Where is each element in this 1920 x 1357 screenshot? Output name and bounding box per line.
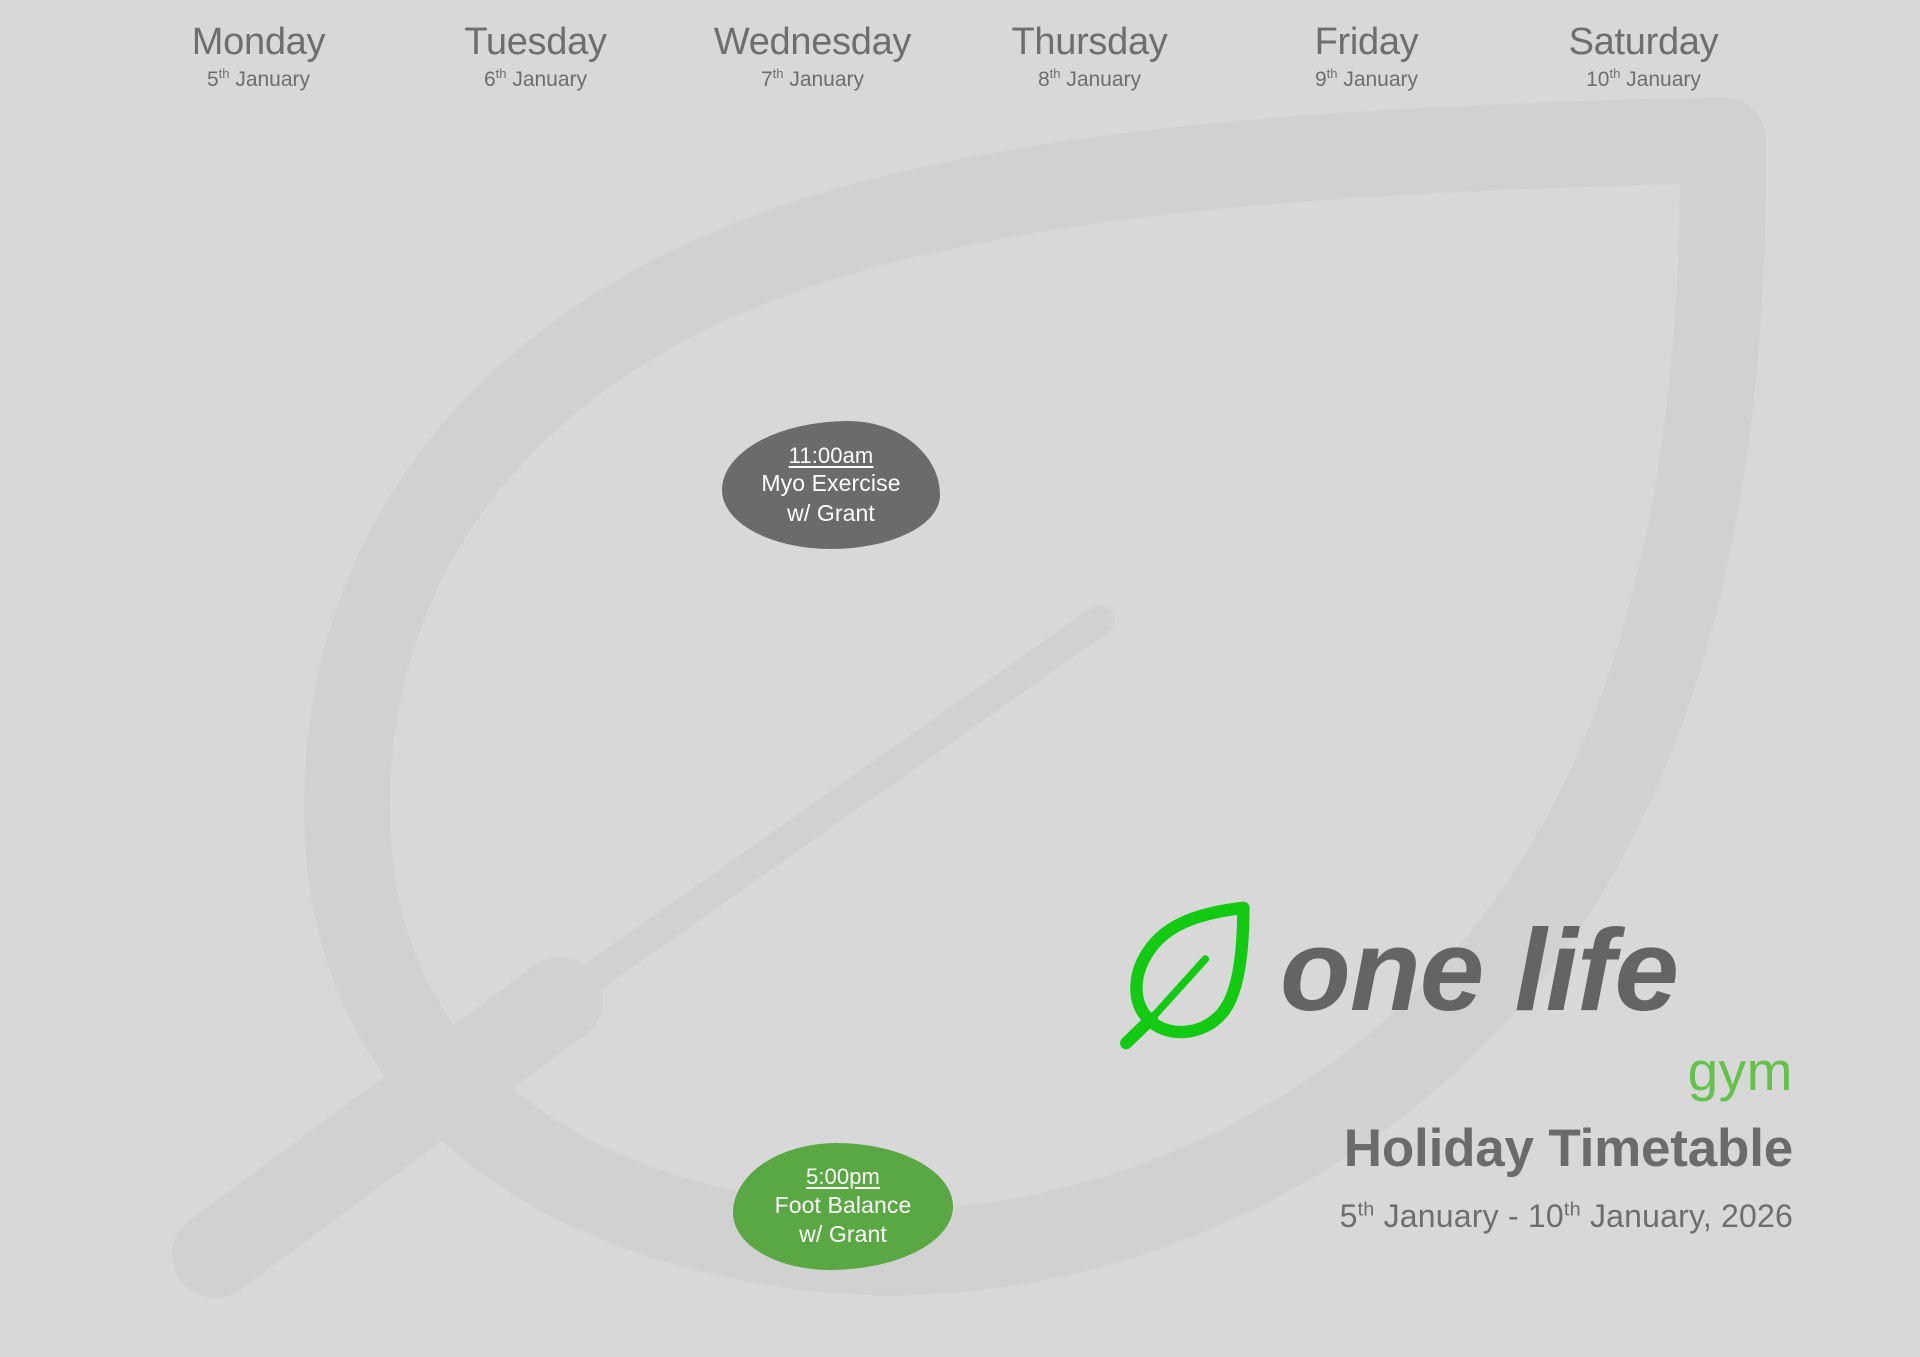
day-name: Tuesday xyxy=(397,22,674,63)
day-column-friday: Friday 9th January xyxy=(1228,0,1505,120)
class-title: Myo Exercise xyxy=(761,469,900,498)
class-title: Foot Balance xyxy=(775,1191,912,1220)
day-date-number: 5 xyxy=(207,68,219,91)
range-start-day: 5 xyxy=(1340,1198,1358,1234)
day-date-ordinal: th xyxy=(1327,66,1338,81)
class-instructor: w/ Grant xyxy=(787,499,875,528)
range-end-ordinal: th xyxy=(1564,1199,1581,1221)
day-column-wednesday: Wednesday 7th January xyxy=(674,0,951,120)
timetable-poster: Monday 5th January Tuesday 6th January W… xyxy=(0,0,1920,1357)
range-year: 2026 xyxy=(1721,1198,1793,1234)
day-name: Monday xyxy=(120,22,397,63)
brand-logo-row: one life xyxy=(1105,890,1845,1050)
day-date: 10th January xyxy=(1505,68,1782,91)
class-card-foot-balance[interactable]: 5:00pm Foot Balance w/ Grant xyxy=(733,1143,953,1270)
day-column-monday: Monday 5th January xyxy=(120,0,397,120)
day-date-number: 10 xyxy=(1586,68,1609,91)
day-name: Thursday xyxy=(951,22,1228,63)
day-column-saturday: Saturday 10th January xyxy=(1505,0,1782,120)
range-end-month: January xyxy=(1590,1198,1703,1234)
day-name: Saturday xyxy=(1505,22,1782,63)
date-range: 5th January - 10th January, 2026 xyxy=(1105,1199,1793,1234)
leaf-icon xyxy=(1113,888,1278,1053)
range-end-day: 10 xyxy=(1528,1198,1564,1234)
day-date-ordinal: th xyxy=(1050,66,1061,81)
day-date-ordinal: th xyxy=(496,66,507,81)
day-date-month: January xyxy=(1343,68,1418,91)
day-date-month: January xyxy=(1066,68,1141,91)
brand-name: one life xyxy=(1280,912,1678,1028)
class-time: 11:00am xyxy=(789,442,874,470)
range-start-ordinal: th xyxy=(1358,1199,1375,1221)
days-header: Monday 5th January Tuesday 6th January W… xyxy=(0,0,1920,120)
day-date: 7th January xyxy=(674,68,951,91)
day-date: 8th January xyxy=(951,68,1228,91)
brand-block: one life gym Holiday Timetable 5th Janua… xyxy=(1105,890,1845,1234)
day-name: Wednesday xyxy=(674,22,951,63)
page-title: Holiday Timetable xyxy=(1105,1121,1793,1177)
day-date-ordinal: th xyxy=(773,66,784,81)
day-date-ordinal: th xyxy=(1609,66,1620,81)
day-date-number: 7 xyxy=(761,68,773,91)
day-date-month: January xyxy=(789,68,864,91)
day-column-tuesday: Tuesday 6th January xyxy=(397,0,674,120)
day-date-number: 9 xyxy=(1315,68,1327,91)
day-name: Friday xyxy=(1228,22,1505,63)
day-column-thursday: Thursday 8th January xyxy=(951,0,1228,120)
range-start-month: January xyxy=(1384,1198,1499,1234)
day-date: 5th January xyxy=(120,68,397,91)
day-date-month: January xyxy=(235,68,310,91)
day-date-ordinal: th xyxy=(219,66,230,81)
class-time: 5:00pm xyxy=(806,1163,880,1191)
day-date-number: 8 xyxy=(1038,68,1050,91)
range-separator: - xyxy=(1508,1198,1519,1234)
day-date-number: 6 xyxy=(484,68,496,91)
day-date-month: January xyxy=(512,68,587,91)
day-date: 6th January xyxy=(397,68,674,91)
class-card-myo-exercise[interactable]: 11:00am Myo Exercise w/ Grant xyxy=(722,421,940,549)
day-date: 9th January xyxy=(1228,68,1505,91)
class-instructor: w/ Grant xyxy=(799,1220,887,1249)
day-date-month: January xyxy=(1626,68,1701,91)
